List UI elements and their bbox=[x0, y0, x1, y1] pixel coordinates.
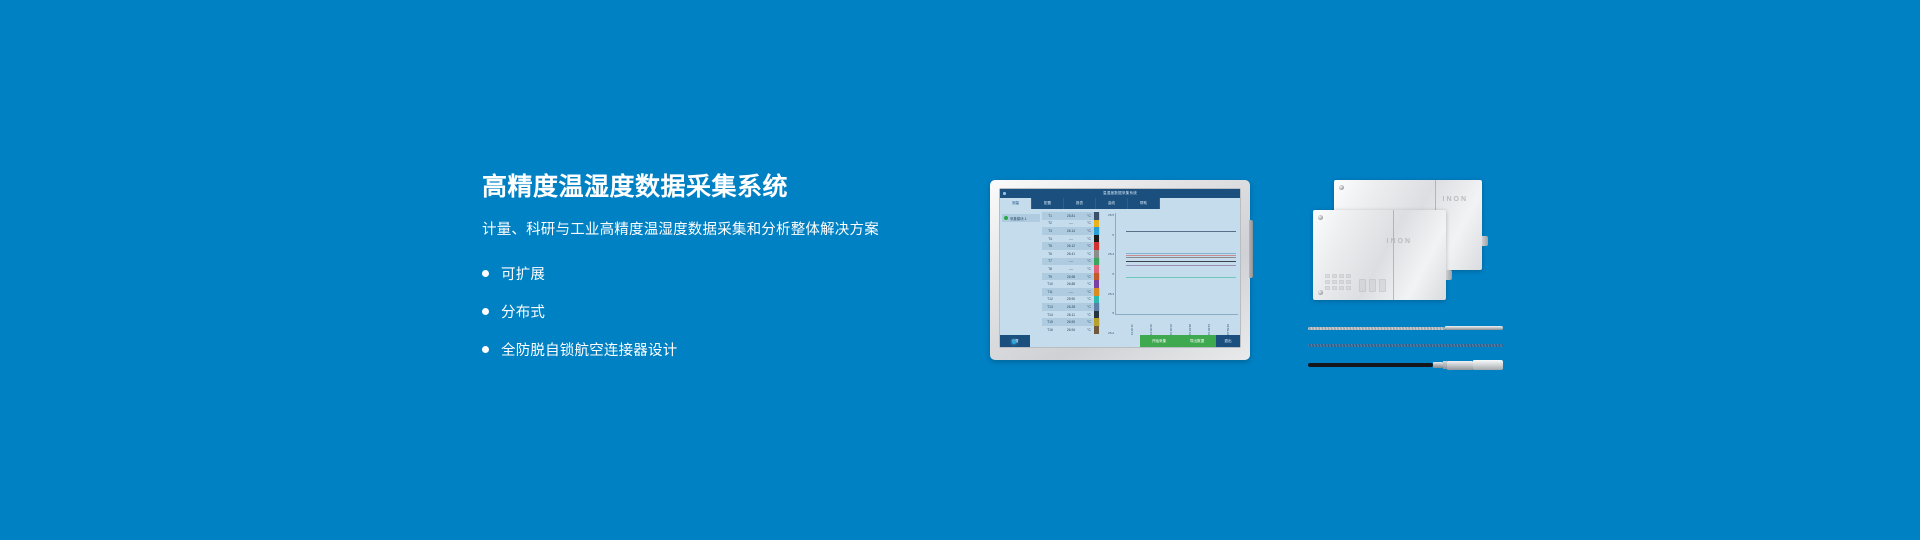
channel-name: T12 bbox=[1042, 297, 1058, 301]
channel-value: 26.28 bbox=[1058, 305, 1084, 309]
channel-value: ---- bbox=[1058, 259, 1084, 263]
bullet-dot-icon bbox=[482, 308, 489, 315]
screw-icon bbox=[1318, 215, 1323, 220]
tab-curve[interactable]: 曲线 bbox=[1096, 198, 1128, 209]
connector-cell bbox=[1332, 280, 1337, 284]
table-row[interactable]: T326.14°C bbox=[1042, 227, 1100, 235]
list-item: 全防脱自锁航空连接器设计 bbox=[482, 339, 1002, 360]
channel-color-swatch bbox=[1094, 220, 1099, 228]
connector-cell bbox=[1346, 286, 1351, 290]
module-seam bbox=[1393, 210, 1394, 300]
channel-name: T3 bbox=[1042, 229, 1058, 233]
channel-unit: °C bbox=[1084, 282, 1094, 286]
tab-report[interactable]: 报表 bbox=[1064, 198, 1096, 209]
app-titlebar: 温湿度数据采集系统 bbox=[1000, 189, 1240, 198]
page-subtitle: 计量、科研与工业高精度温湿度数据采集和分析整体解决方案 bbox=[482, 220, 1002, 240]
table-row[interactable]: T11----°C bbox=[1042, 288, 1100, 296]
connector-cell bbox=[1332, 274, 1337, 278]
page-title: 高精度温湿度数据采集系统 bbox=[482, 172, 1002, 203]
channel-unit: °C bbox=[1084, 252, 1094, 256]
channel-value: 26.94 bbox=[1058, 328, 1084, 332]
channel-name: T7 bbox=[1042, 259, 1058, 263]
channel-unit: °C bbox=[1084, 229, 1094, 233]
table-row[interactable]: T1626.94°C bbox=[1042, 326, 1100, 334]
connector-cell bbox=[1339, 280, 1344, 284]
monitor-bezel: 温湿度数据采集系统 测量 配置 报表 曲线 帮助 bbox=[990, 180, 1250, 360]
y-axis-tick: 25.3 bbox=[1108, 292, 1114, 296]
channel-name: T1 bbox=[1042, 214, 1058, 218]
channel-color-swatch bbox=[1094, 250, 1099, 258]
channel-name: T6 bbox=[1042, 252, 1058, 256]
probe-tip bbox=[1445, 326, 1503, 330]
channel-unit: °C bbox=[1084, 275, 1094, 279]
y-axis-tick: .5 bbox=[1111, 233, 1114, 237]
table-row[interactable]: T8----°C bbox=[1042, 265, 1100, 273]
list-item: 可扩展 bbox=[482, 263, 1002, 284]
table-row[interactable]: T4----°C bbox=[1042, 235, 1100, 243]
connector-cell bbox=[1325, 280, 1330, 284]
monitor-inner-lip: 温湿度数据采集系统 测量 配置 报表 曲线 帮助 bbox=[999, 188, 1241, 348]
channel-name: T15 bbox=[1042, 320, 1058, 324]
connector-cell bbox=[1332, 286, 1337, 290]
y-axis-tick: .5 bbox=[1111, 311, 1114, 315]
channel-name: T14 bbox=[1042, 313, 1058, 317]
screw-icon bbox=[1339, 185, 1344, 190]
channel-name: T13 bbox=[1042, 305, 1058, 309]
power-led-icon bbox=[1012, 340, 1016, 344]
port-block-group bbox=[1359, 279, 1386, 292]
table-row[interactable]: T7----°C bbox=[1042, 258, 1100, 266]
channel-value: 26.12 bbox=[1058, 244, 1084, 248]
channel-color-swatch bbox=[1094, 258, 1099, 266]
channel-name: T8 bbox=[1042, 267, 1058, 271]
y-axis-tick: .5 bbox=[1111, 272, 1114, 276]
probe-head bbox=[1473, 360, 1503, 370]
channel-unit: °C bbox=[1084, 313, 1094, 317]
trend-line bbox=[1126, 265, 1236, 266]
export-data-button[interactable]: 导出数据 bbox=[1178, 335, 1216, 347]
channel-color-swatch bbox=[1094, 303, 1099, 311]
tab-bar-filler bbox=[1160, 198, 1240, 209]
table-row[interactable]: T1326.28°C bbox=[1042, 303, 1100, 311]
channel-name: T5 bbox=[1042, 244, 1058, 248]
y-axis-tick: 25.4 bbox=[1108, 252, 1114, 256]
x-axis-tick: 14:20:11 bbox=[1130, 315, 1134, 335]
table-row[interactable]: T626.41°C bbox=[1042, 250, 1100, 258]
x-axis-tick: 15:19:58 bbox=[1188, 315, 1192, 335]
channel-color-swatch bbox=[1094, 318, 1099, 326]
trend-line bbox=[1126, 257, 1236, 258]
banner-copy-block: 高精度温湿度数据采集系统 计量、科研与工业高精度温湿度数据采集和分析整体解决方案… bbox=[482, 172, 1002, 360]
chart-canvas: 14:20:1114:40:0615:00:0215:19:5815:39:53… bbox=[1115, 213, 1238, 335]
channel-value: ---- bbox=[1058, 267, 1084, 271]
x-axis-tick: 15:00:02 bbox=[1169, 315, 1173, 335]
footer-spacer bbox=[1030, 335, 1140, 347]
connector-cell bbox=[1346, 274, 1351, 278]
exit-button[interactable]: 退出 bbox=[1216, 335, 1240, 347]
app-content-area: 采集模块-1 T125.81°CT2----°CT326.14°CT4----°… bbox=[1000, 209, 1240, 335]
black-cable-humidity-probe bbox=[1308, 360, 1503, 370]
app-tab-bar: 测量 配置 报表 曲线 帮助 bbox=[1000, 198, 1240, 209]
channel-value: 26.14 bbox=[1058, 229, 1084, 233]
feature-list: 可扩展 分布式 全防脱自锁航空连接器设计 bbox=[482, 263, 1002, 360]
product-banner: 高精度温湿度数据采集系统 计量、科研与工业高精度温湿度数据采集和分析整体解决方案… bbox=[0, 0, 1920, 540]
device-name-label: 采集模块-1 bbox=[1010, 216, 1027, 221]
channel-unit: °C bbox=[1084, 297, 1094, 301]
channel-unit: °C bbox=[1084, 305, 1094, 309]
probe-barrel bbox=[1447, 361, 1473, 370]
bullet-dot-icon bbox=[482, 346, 489, 353]
trend-line bbox=[1126, 261, 1236, 262]
device-list-panel: 采集模块-1 bbox=[1000, 212, 1042, 335]
channel-value-table: T125.81°CT2----°CT326.14°CT4----°CT526.1… bbox=[1042, 212, 1100, 335]
port-block bbox=[1369, 279, 1376, 292]
acquisition-module-front: INON bbox=[1313, 210, 1446, 300]
channel-unit: °C bbox=[1084, 320, 1094, 324]
channel-name: T11 bbox=[1042, 290, 1058, 294]
channel-unit: °C bbox=[1084, 237, 1094, 241]
module-side-connector bbox=[1482, 236, 1488, 246]
stainless-temperature-probe bbox=[1308, 326, 1503, 330]
channel-value: ---- bbox=[1058, 237, 1084, 241]
channel-color-swatch bbox=[1094, 273, 1099, 281]
feature-label: 全防脱自锁航空连接器设计 bbox=[501, 339, 677, 360]
feature-label: 可扩展 bbox=[501, 263, 545, 284]
list-item: 分布式 bbox=[482, 301, 1002, 322]
sensor-probe-group bbox=[1308, 320, 1503, 376]
table-row[interactable]: T2----°C bbox=[1042, 220, 1100, 228]
table-row[interactable]: T1026.88°C bbox=[1042, 280, 1100, 288]
table-row[interactable]: T926.98°C bbox=[1042, 273, 1100, 281]
connector-cell bbox=[1339, 274, 1344, 278]
connector-cell bbox=[1325, 286, 1330, 290]
status-online-icon bbox=[1004, 216, 1008, 220]
channel-color-swatch bbox=[1094, 235, 1099, 243]
monitor-side-port bbox=[1249, 220, 1253, 278]
channel-unit: °C bbox=[1084, 267, 1094, 271]
port-block bbox=[1359, 279, 1366, 292]
channel-value: 25.81 bbox=[1058, 214, 1084, 218]
channel-unit: °C bbox=[1084, 221, 1094, 225]
x-axis-tick: 15:59:49 bbox=[1226, 315, 1230, 335]
x-axis-tick: 14:40:06 bbox=[1149, 315, 1153, 335]
connector-cell bbox=[1339, 286, 1344, 290]
channel-value: 26.98 bbox=[1058, 275, 1084, 279]
blue-cable-probe bbox=[1308, 344, 1503, 347]
connector-cell bbox=[1346, 280, 1351, 284]
start-acquisition-button[interactable]: 开始采集 bbox=[1140, 335, 1178, 347]
channel-color-swatch bbox=[1094, 311, 1099, 319]
channel-value: ---- bbox=[1058, 290, 1084, 294]
channel-name: T2 bbox=[1042, 221, 1058, 225]
feature-label: 分布式 bbox=[501, 301, 545, 322]
screw-icon bbox=[1318, 290, 1323, 295]
brand-logo: INON bbox=[1387, 238, 1413, 245]
module-side-connector bbox=[1446, 270, 1452, 280]
channel-color-swatch bbox=[1094, 326, 1099, 334]
port-block bbox=[1379, 279, 1386, 292]
channel-unit: °C bbox=[1084, 214, 1094, 218]
tab-help[interactable]: 帮助 bbox=[1128, 198, 1160, 209]
monitor-screen: 温湿度数据采集系统 测量 配置 报表 曲线 帮助 bbox=[1000, 189, 1240, 347]
channel-value: 26.88 bbox=[1058, 282, 1084, 286]
panel-pc-monitor: 温湿度数据采集系统 测量 配置 报表 曲线 帮助 bbox=[990, 180, 1250, 360]
channel-value: ---- bbox=[1058, 221, 1084, 225]
channel-unit: °C bbox=[1084, 244, 1094, 248]
black-cable bbox=[1308, 363, 1433, 367]
table-row[interactable]: T1225.90°C bbox=[1042, 296, 1100, 304]
channel-color-swatch bbox=[1094, 212, 1099, 220]
y-axis-tick: 25.5 bbox=[1108, 213, 1114, 217]
table-row[interactable]: T1426.11°C bbox=[1042, 311, 1100, 319]
channel-value: 26.90 bbox=[1058, 320, 1084, 324]
chart-y-axis: 25.5.525.4.525.3.525.2 bbox=[1101, 213, 1115, 335]
channel-name: T4 bbox=[1042, 237, 1058, 241]
channel-color-swatch bbox=[1094, 280, 1099, 288]
channel-name: T9 bbox=[1042, 275, 1058, 279]
channel-name: T10 bbox=[1042, 282, 1058, 286]
app-window-title: 温湿度数据采集系统 bbox=[1000, 189, 1240, 198]
bullet-dot-icon bbox=[482, 270, 489, 277]
channel-value: 25.90 bbox=[1058, 297, 1084, 301]
table-row[interactable]: T526.12°C bbox=[1042, 242, 1100, 250]
channel-unit: °C bbox=[1084, 259, 1094, 263]
trend-line bbox=[1126, 277, 1236, 278]
channel-color-swatch bbox=[1094, 227, 1099, 235]
trend-line bbox=[1126, 253, 1236, 254]
tab-config[interactable]: 配置 bbox=[1032, 198, 1064, 209]
channel-unit: °C bbox=[1084, 328, 1094, 332]
trend-line bbox=[1126, 255, 1236, 256]
channel-value: 26.11 bbox=[1058, 313, 1084, 317]
channel-value: 26.41 bbox=[1058, 252, 1084, 256]
app-footer-bar: 设置 开始采集 导出数据 退出 bbox=[1000, 335, 1240, 347]
x-axis-tick: 15:39:53 bbox=[1207, 315, 1211, 335]
chart-plot-area bbox=[1115, 213, 1238, 315]
table-row[interactable]: T125.81°C bbox=[1042, 212, 1100, 220]
blue-cable bbox=[1308, 344, 1503, 347]
channel-color-swatch bbox=[1094, 296, 1099, 304]
brand-logo: INON bbox=[1443, 196, 1469, 203]
trend-line bbox=[1126, 231, 1236, 232]
probe-ferrule bbox=[1433, 362, 1443, 368]
braided-cable bbox=[1308, 327, 1445, 330]
channel-color-swatch bbox=[1094, 288, 1099, 296]
tab-measure[interactable]: 测量 bbox=[1000, 198, 1032, 209]
connector-cell bbox=[1325, 274, 1330, 278]
list-item[interactable]: 采集模块-1 bbox=[1002, 214, 1040, 222]
channel-color-swatch bbox=[1094, 265, 1099, 273]
table-row[interactable]: T1526.90°C bbox=[1042, 318, 1100, 326]
connector-grid bbox=[1325, 274, 1351, 290]
channel-name: T16 bbox=[1042, 328, 1058, 332]
channel-unit: °C bbox=[1084, 290, 1094, 294]
channel-color-swatch bbox=[1094, 242, 1099, 250]
chart-x-axis: 14:20:1114:40:0615:00:0215:19:5815:39:53… bbox=[1115, 315, 1238, 335]
trend-chart: 25.5.525.4.525.3.525.2 14:20:1114:40:061… bbox=[1100, 212, 1240, 335]
